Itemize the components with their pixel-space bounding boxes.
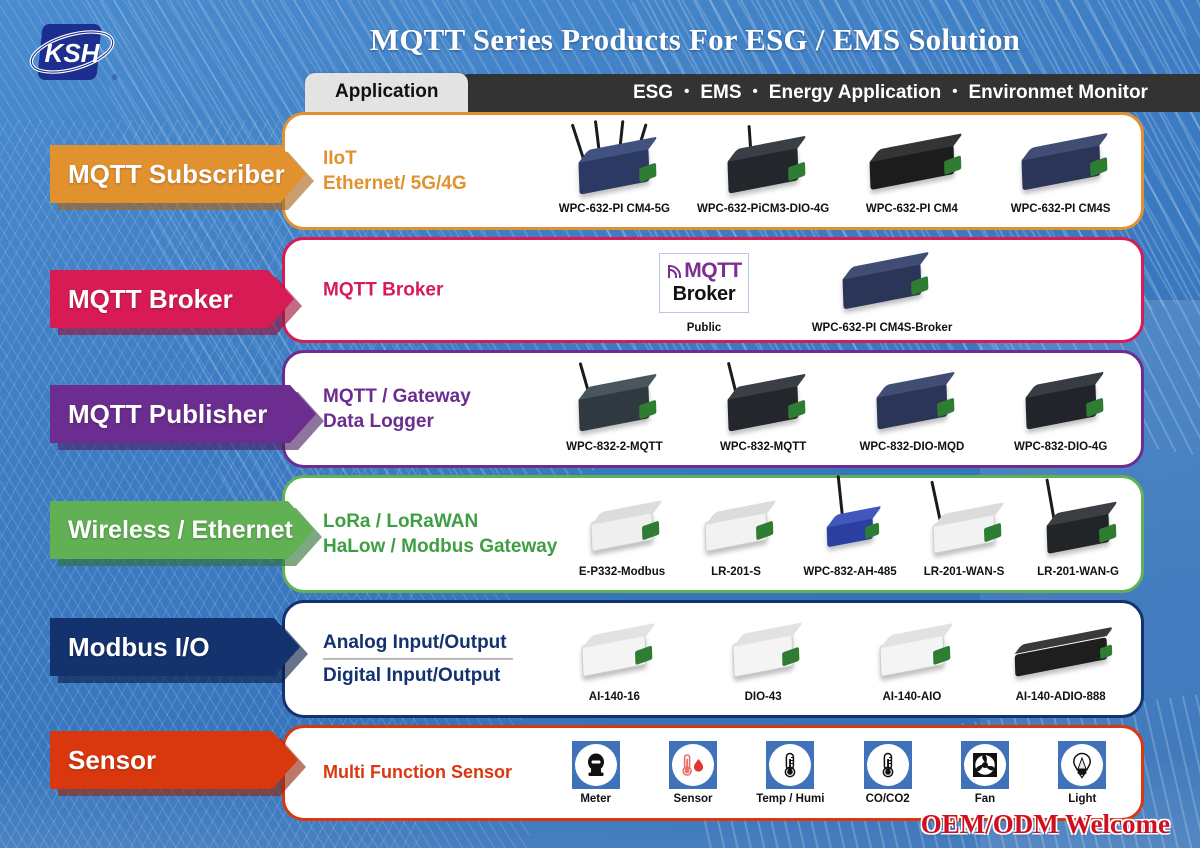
product-card[interactable]: DIO-43 [689, 616, 838, 703]
lightbulb-icon [1070, 751, 1094, 779]
product-card[interactable]: WPC-632-PI CM4S-Broker [807, 247, 957, 334]
product-name: AI-140-AIO [838, 691, 987, 703]
product-name: AI-140-16 [540, 691, 689, 703]
io-module-long-icon [986, 616, 1135, 688]
tag-label: Sensor [68, 745, 156, 776]
router-4-antenna-icon [540, 128, 689, 200]
sensor-card[interactable]: Temp / Humi [746, 741, 834, 805]
product-name: DIO-43 [689, 691, 838, 703]
industrial-pc-black-icon [838, 128, 987, 200]
serial-converter-blue-icon [793, 491, 907, 563]
product-name: WPC-632-PiCM3-DIO-4G [689, 203, 838, 215]
tag-mqtt-subscriber[interactable]: MQTT Subscriber [50, 145, 306, 203]
gateway-1-antenna-icon [1021, 491, 1135, 563]
sensor-label: Meter [552, 793, 640, 805]
row-description-broker: MQTT Broker [323, 277, 443, 302]
product-card[interactable]: E-P332-Modbus [565, 491, 679, 578]
thermometer-icon [878, 751, 898, 779]
product-card[interactable]: AI-140-AIO [838, 616, 987, 703]
tab-application[interactable]: Application [305, 73, 468, 112]
tab-item-environment-monitor[interactable]: Environmet Monitor [969, 82, 1148, 104]
product-card[interactable]: LR-201-WAN-S [907, 491, 1021, 578]
row-description-wireless: LoRa / LoRaWAN HaLow / Modbus Gateway [323, 509, 557, 559]
row-description-publisher: MQTT / Gateway Data Logger [323, 384, 471, 434]
sensor-label: Fan [941, 793, 1029, 805]
product-name: AI-140-ADIO-888 [986, 691, 1135, 703]
sensor-label: Sensor [649, 793, 737, 805]
product-name: WPC-832-DIO-MQD [838, 441, 987, 453]
sensor-list: Meter Sensor [547, 728, 1131, 818]
tab-category-bar: ESG • EMS • Energy Application • Environ… [460, 74, 1200, 112]
tag-label: MQTT Publisher [68, 399, 267, 430]
io-module-white-icon [689, 616, 838, 688]
product-list-wireless: E-P332-Modbus LR-201-S [565, 478, 1135, 590]
product-card[interactable]: WPC-832-DIO-MQD [838, 366, 987, 453]
product-list-broker: MQTT Broker Public [615, 240, 971, 340]
row-sensor: Multi Function Sensor Meter [282, 725, 1144, 821]
product-list-subscriber: WPC-632-PI CM4-5G WPC-632-PiCM3-DIO-4G [540, 115, 1135, 227]
product-card[interactable]: WPC-832-MQTT [689, 366, 838, 453]
row-mqtt-publisher: MQTT / Gateway Data Logger WPC-8 [282, 350, 1144, 468]
tag-wireless-ethernet[interactable]: Wireless / Ethernet [50, 501, 314, 559]
industrial-pc-blue-icon [807, 247, 957, 319]
mqtt-badge-bottom: Broker [664, 283, 744, 306]
product-card[interactable]: WPC-632-PiCM3-DIO-4G [689, 128, 838, 215]
gateway-no-antenna-icon [679, 491, 793, 563]
product-rows: IIoT Ethernet/ 5G/4G [282, 112, 1144, 828]
row-mqtt-broker: MQTT Broker MQTT Broker [282, 237, 1144, 343]
svg-text:KSH: KSH [45, 38, 101, 68]
product-name: E-P332-Modbus [565, 566, 679, 578]
product-card[interactable]: WPC-832-2-MQTT [540, 366, 689, 453]
io-module-white-icon [838, 616, 987, 688]
tag-sensor[interactable]: Sensor [50, 731, 298, 789]
tab-separator-dot-2: • [753, 84, 758, 99]
product-card[interactable]: LR-201-WAN-G [1021, 491, 1135, 578]
industrial-pc-blue-icon [986, 128, 1135, 200]
thermometer-drop-icon [679, 752, 707, 778]
sensor-card[interactable]: CO/CO2 [844, 741, 932, 805]
gateway-no-antenna-icon [565, 491, 679, 563]
tag-mqtt-broker[interactable]: MQTT Broker [50, 270, 294, 328]
mqtt-signal-icon [666, 262, 683, 280]
product-name: LR-201-WAN-G [1021, 566, 1135, 578]
product-name: WPC-632-PI CM4-5G [540, 203, 689, 215]
product-card[interactable]: WPC-832-DIO-4G [986, 366, 1135, 453]
svg-text:®: ® [112, 73, 118, 82]
product-name: WPC-632-PI CM4S-Broker [807, 322, 957, 334]
product-card[interactable]: WPC-632-PI CM4 [838, 128, 987, 215]
sensor-card[interactable]: Light [1038, 741, 1126, 805]
sensor-card[interactable]: Fan [941, 741, 1029, 805]
io-module-white-icon [540, 616, 689, 688]
tag-label: Modbus I/O [68, 632, 210, 663]
gateway-1-antenna-icon [689, 366, 838, 438]
product-name: Public [629, 322, 779, 334]
product-name: WPC-832-MQTT [689, 441, 838, 453]
product-card[interactable]: AI-140-ADIO-888 [986, 616, 1135, 703]
product-card[interactable]: AI-140-16 [540, 616, 689, 703]
ksh-logo: KSH ® [20, 18, 128, 88]
tab-item-energy-application[interactable]: Energy Application [769, 82, 941, 104]
tag-label: Wireless / Ethernet [68, 516, 293, 545]
tab-separator-dot-3: • [952, 84, 957, 99]
sensor-label: Light [1038, 793, 1126, 805]
meter-icon [583, 752, 609, 778]
mqtt-broker-badge-icon: MQTT Broker [629, 247, 779, 319]
tab-item-esg[interactable]: ESG [633, 82, 673, 104]
product-name: WPC-832-DIO-4G [986, 441, 1135, 453]
product-card[interactable]: MQTT Broker Public [629, 247, 779, 334]
tab-bar: Application ESG • EMS • Energy Applicati… [305, 73, 1200, 112]
tag-mqtt-publisher[interactable]: MQTT Publisher [50, 385, 316, 443]
product-name: WPC-632-PI CM4S [986, 203, 1135, 215]
product-card[interactable]: WPC-632-PI CM4S [986, 128, 1135, 215]
product-name: LR-201-S [679, 566, 793, 578]
row-description-sensor: Multi Function Sensor [323, 761, 512, 785]
gateway-no-antenna-icon [838, 366, 987, 438]
gateway-1-antenna-icon [907, 491, 1021, 563]
tag-label: MQTT Subscriber [68, 159, 285, 190]
row-modbus-io: Analog Input/Output Digital Input/Output [282, 600, 1144, 718]
product-card[interactable]: WPC-832-AH-485 [793, 491, 907, 578]
product-name: WPC-832-2-MQTT [540, 441, 689, 453]
sensor-card[interactable]: Sensor [649, 741, 737, 805]
sensor-label: Temp / Humi [746, 793, 834, 805]
product-name: WPC-832-AH-485 [793, 566, 907, 578]
thermometer-icon [780, 751, 800, 779]
description-divider [323, 658, 513, 660]
tab-item-ems[interactable]: EMS [700, 82, 741, 104]
sensor-label: CO/CO2 [844, 793, 932, 805]
product-list-publisher: WPC-832-2-MQTT WPC-832-MQTT [540, 353, 1135, 465]
tag-label: MQTT Broker [68, 284, 233, 315]
row-description-modbus: Analog Input/Output Digital Input/Output [323, 630, 513, 688]
tag-modbus-io[interactable]: Modbus I/O [50, 618, 300, 676]
gateway-1-antenna-icon [540, 366, 689, 438]
row-mqtt-subscriber: IIoT Ethernet/ 5G/4G [282, 112, 1144, 230]
mqtt-badge-top: MQTT [684, 259, 741, 283]
footer-oem-odm: OEM/ODM Welcome [921, 809, 1170, 840]
row-description-subscriber: IIoT Ethernet/ 5G/4G [323, 146, 467, 196]
product-name: LR-201-WAN-S [907, 566, 1021, 578]
page-title: MQTT Series Products For ESG / EMS Solut… [300, 22, 1090, 58]
gateway-no-antenna-icon [986, 366, 1135, 438]
sensor-card[interactable]: Meter [552, 741, 640, 805]
product-name: WPC-632-PI CM4 [838, 203, 987, 215]
product-card[interactable]: WPC-632-PI CM4-5G [540, 128, 689, 215]
product-card[interactable]: LR-201-S [679, 491, 793, 578]
product-list-modbus: AI-140-16 DIO-43 [540, 603, 1135, 715]
row-wireless-ethernet: LoRa / LoRaWAN HaLow / Modbus Gateway E-… [282, 475, 1144, 593]
fan-icon [971, 751, 999, 779]
gateway-1-antenna-icon [689, 128, 838, 200]
tab-separator-dot-1: • [684, 84, 689, 99]
